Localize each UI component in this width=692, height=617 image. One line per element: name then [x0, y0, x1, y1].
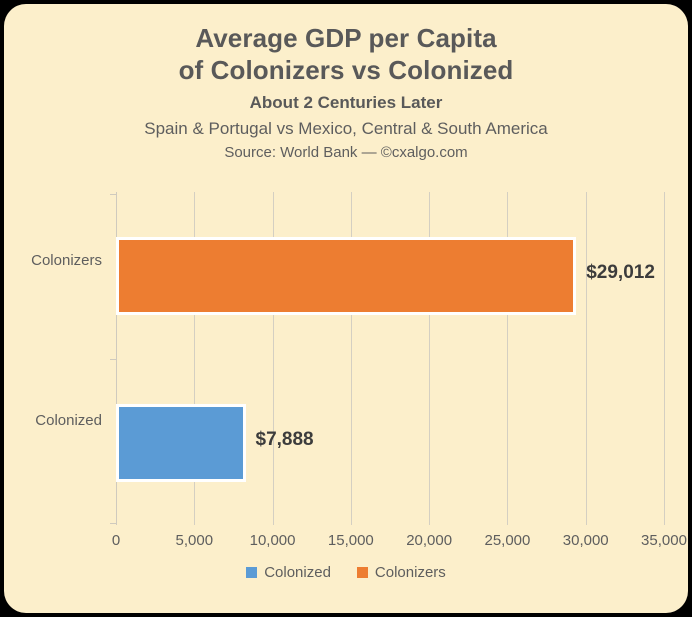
- legend-label: Colonizers: [375, 564, 446, 581]
- axis-tick: [110, 359, 116, 360]
- chart-card: Average GDP per Capita of Colonizers vs …: [4, 4, 688, 613]
- legend-swatch-icon: [357, 567, 368, 578]
- value-axis-tick-labels: 05,00010,00015,00020,00025,00030,00035,0…: [116, 532, 664, 558]
- chart-title-line-2: of Colonizers vs Colonized: [4, 54, 688, 86]
- category-axis-labels: Colonizers Colonized: [4, 192, 108, 525]
- chart-legend: ColonizedColonizers: [4, 564, 688, 581]
- legend-item-colonized[interactable]: Colonized: [246, 564, 331, 581]
- category-label-colonized: Colonized: [35, 412, 102, 429]
- bar-colonizers[interactable]: [116, 237, 576, 315]
- x-tick-label: 10,000: [250, 532, 296, 549]
- category-label-colonizers: Colonizers: [31, 252, 102, 269]
- x-tick-label: 20,000: [406, 532, 452, 549]
- bar-value-label-colonizers: $29,012: [586, 262, 655, 284]
- legend-item-colonizers[interactable]: Colonizers: [357, 564, 446, 581]
- gridline: [664, 192, 665, 525]
- x-tick-label: 0: [112, 532, 120, 549]
- chart-subtitle-bold: About 2 Centuries Later: [4, 90, 688, 116]
- x-tick-label: 35,000: [641, 532, 687, 549]
- chart-subtitle-source: Source: World Bank — ©cxalgo.com: [4, 141, 688, 164]
- legend-swatch-icon: [246, 567, 257, 578]
- plot-area: $29,012 $7,888: [116, 192, 664, 525]
- chart-subtitle-regions: Spain & Portugal vs Mexico, Central & So…: [4, 116, 688, 141]
- chart-title-block: Average GDP per Capita of Colonizers vs …: [4, 22, 688, 164]
- axis-tick: [110, 194, 116, 195]
- chart-title-line-1: Average GDP per Capita: [4, 22, 688, 54]
- bar-colonized[interactable]: [116, 404, 246, 482]
- gridline: [586, 192, 587, 525]
- x-tick-label: 15,000: [328, 532, 374, 549]
- bar-value-label-colonized: $7,888: [256, 429, 314, 451]
- plot-wrapper: Colonizers Colonized $29,012 $7,888 05,0…: [4, 192, 688, 532]
- x-tick-label: 30,000: [563, 532, 609, 549]
- axis-tick: [110, 523, 116, 524]
- x-tick-label: 25,000: [484, 532, 530, 549]
- legend-label: Colonized: [264, 564, 331, 581]
- x-tick-label: 5,000: [176, 532, 214, 549]
